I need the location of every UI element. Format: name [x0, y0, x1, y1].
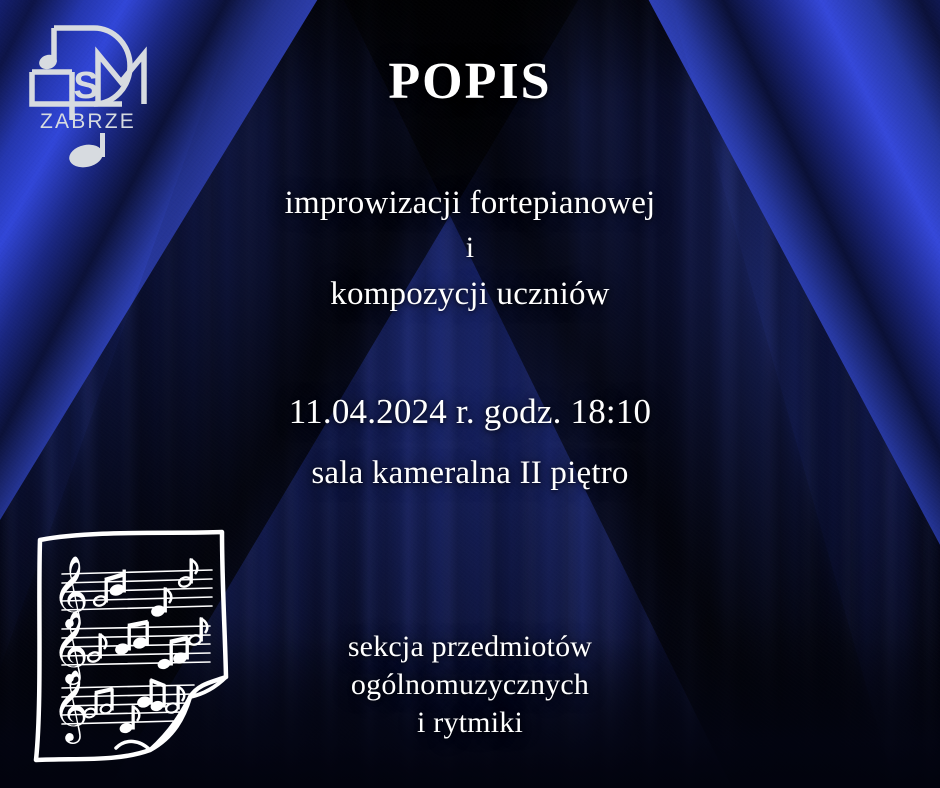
- subtitle-line-3: kompozycji uczniów: [0, 276, 940, 313]
- event-date-time: 11.04.2024 r. godz. 18:10: [0, 392, 940, 432]
- event-location: sala kameralna II piętro: [0, 455, 940, 492]
- treble-clefs: 𝄞 𝄞 𝄞: [52, 554, 89, 744]
- subtitle-line-1: improwizacji fortepianowej: [0, 185, 940, 222]
- paper-curl-fold: [190, 677, 226, 697]
- poster: S ZABRZE POPIS improwizacji fortepianowe…: [0, 0, 940, 788]
- sheet-music-illustration: 𝄞 𝄞 𝄞: [22, 512, 274, 774]
- staff-3-notes: [83, 680, 184, 734]
- page-title: POPIS: [0, 52, 940, 111]
- svg-text:ZABRZE: ZABRZE: [40, 110, 136, 133]
- paper-curl-inner: [116, 741, 150, 750]
- subtitle-line-2: i: [0, 231, 940, 265]
- svg-text:𝄞: 𝄞: [52, 668, 89, 744]
